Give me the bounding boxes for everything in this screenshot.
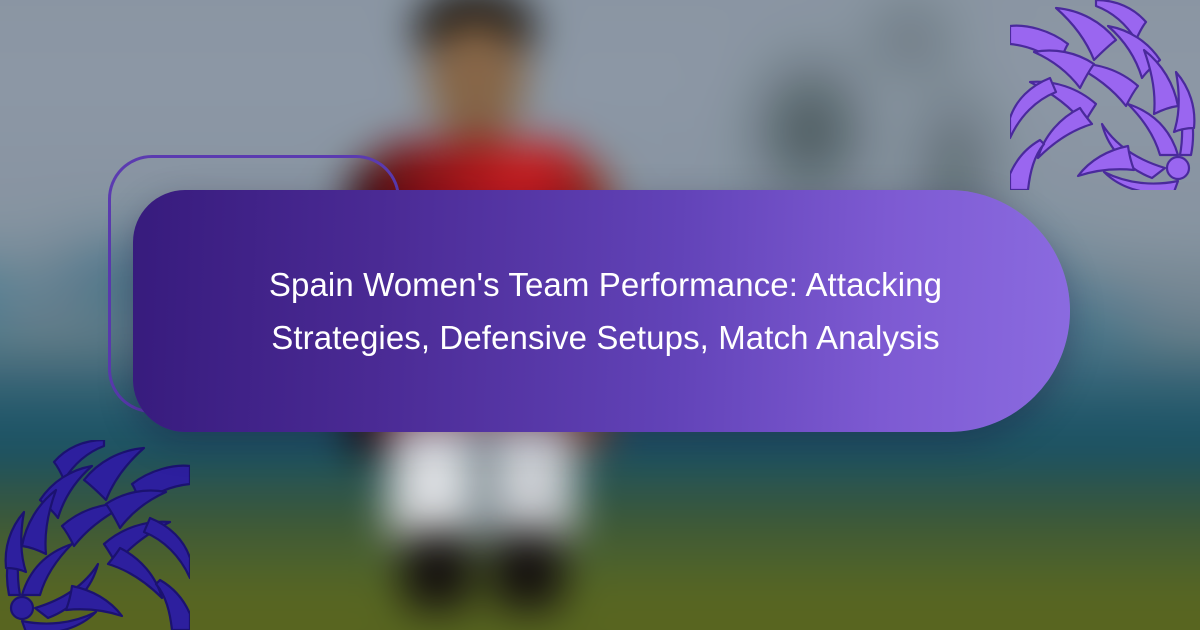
title-banner-card: Spain Women's Team Performance: Attackin… (133, 190, 1070, 432)
social-card-canvas: Spain Women's Team Performance: Attackin… (0, 0, 1200, 630)
page-title: Spain Women's Team Performance: Attackin… (133, 258, 1070, 365)
